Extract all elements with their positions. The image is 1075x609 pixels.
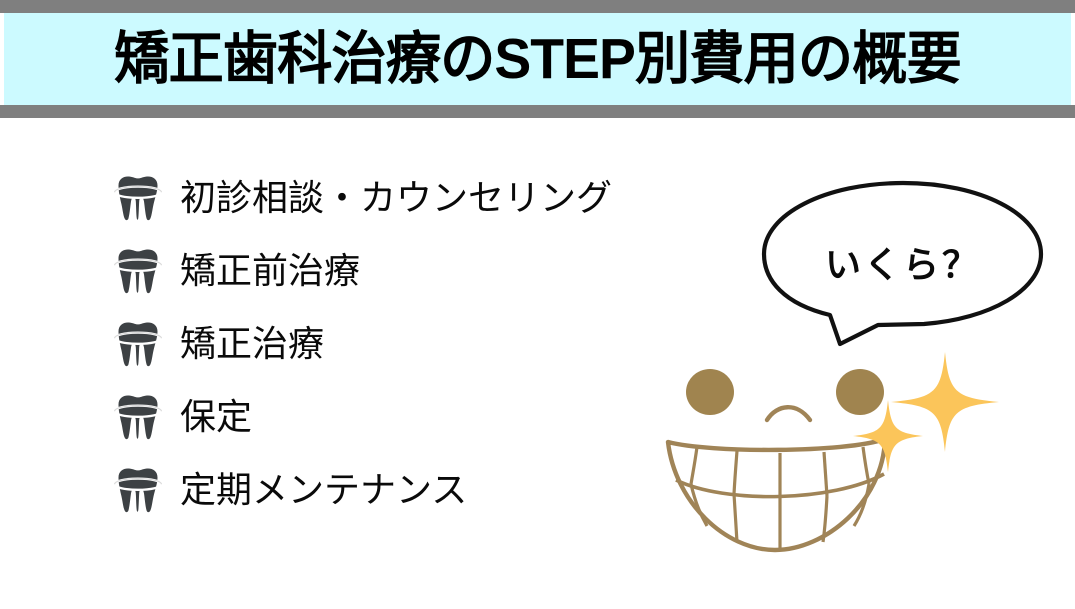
title-banner: 矯正歯科治療のSTEP別費用の概要 (0, 0, 1075, 118)
tooth-with-braces-icon (112, 321, 164, 367)
page-title: 矯正歯科治療のSTEP別費用の概要 (16, 13, 1059, 105)
list-item: 矯正治療 (112, 318, 732, 370)
step-label: 保定 (180, 399, 252, 435)
mouth-outline (668, 439, 885, 550)
tooth-with-braces-icon (112, 248, 164, 294)
step-label: 矯正前治療 (180, 253, 360, 289)
face-svg (655, 352, 1015, 567)
list-item: 矯正前治療 (112, 245, 732, 297)
step-label: 定期メンテナンス (180, 472, 467, 508)
right-eye-icon (836, 369, 884, 415)
smiling-face-illustration (655, 352, 1015, 567)
list-item: 定期メンテナンス (112, 464, 732, 516)
speech-bubble: いくら？ (758, 178, 1048, 373)
list-item: 初診相談・カウンセリング (112, 172, 732, 224)
tooth-with-braces-icon (112, 394, 164, 440)
banner-rule-top (0, 0, 1075, 13)
tooth-with-braces-icon (112, 175, 164, 221)
speech-bubble-text: いくら？ (758, 236, 1048, 288)
tooth-with-braces-icon (112, 467, 164, 513)
step-label: 矯正治療 (180, 326, 324, 362)
step-list: 初診相談・カウンセリング 矯正前治療 矯正治療 保定 (112, 172, 732, 537)
step-label: 初診相談・カウンセリング (180, 180, 612, 216)
banner-rule-bottom (0, 105, 1075, 118)
left-eye-icon (686, 369, 734, 415)
list-item: 保定 (112, 391, 732, 443)
slide-canvas: 矯正歯科治療のSTEP別費用の概要 初診相談・カウンセリング 矯正前治療 (0, 0, 1075, 609)
nose-icon (767, 407, 810, 420)
